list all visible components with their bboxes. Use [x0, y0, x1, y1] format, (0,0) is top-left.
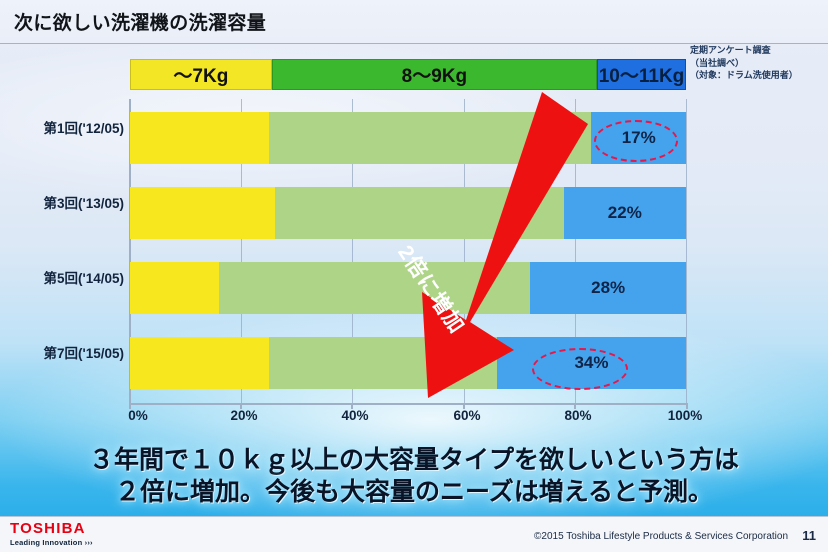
- survey-note: 定期アンケート調査 （当社調べ） （対象：ドラム洗使用者）: [690, 44, 822, 82]
- y-axis-label-3: 第7回('15/05): [44, 342, 125, 362]
- legend-item-medium: 8～9Kg: [272, 59, 597, 90]
- x-axis-label-80: 80%: [564, 408, 591, 423]
- bar-segment-small-0: [130, 112, 269, 164]
- legend-item-small: ～7Kg: [130, 59, 272, 90]
- x-axis-label-60: 60%: [453, 408, 480, 423]
- y-axis-labels: 第1回('12/05) 第3回('13/05) 第5回('14/05) 第7回(…: [0, 99, 124, 404]
- bar-segment-small-3: [130, 337, 269, 389]
- bar-value-0: 17%: [622, 128, 656, 148]
- toshiba-tagline: Leading Innovation ›››: [10, 538, 93, 547]
- y-axis-label-1: 第3回('13/05): [44, 192, 125, 212]
- copyright-text: ©2015 Toshiba Lifestyle Products & Servi…: [534, 531, 788, 542]
- y-axis-label-2: 第5回('14/05): [44, 267, 125, 287]
- summary-message-line1: ３年間で１０ｋｇ以上の大容量タイプを欲しいという方は: [0, 444, 828, 476]
- increase-arrow-icon: [392, 92, 612, 402]
- page-title: 次に欲しい洗濯機の洗濯容量: [14, 8, 266, 35]
- chart-legend: ～7Kg 8～9Kg 10～11Kg: [130, 59, 686, 90]
- summary-message-line2: ２倍に増加。今後も大容量のニーズは増えると予測。: [0, 476, 828, 508]
- gridline-100: [686, 99, 687, 404]
- legend-item-large: 10～11Kg: [597, 59, 686, 90]
- bar-segment-small-2: [130, 262, 219, 314]
- summary-message: ３年間で１０ｋｇ以上の大容量タイプを欲しいという方は ２倍に増加。今後も大容量の…: [0, 444, 828, 508]
- toshiba-logo: TOSHIBA: [10, 520, 86, 537]
- x-axis-label-100: 100%: [668, 408, 703, 423]
- bar-segment-small-1: [130, 187, 275, 239]
- survey-note-line2: （当社調べ）: [690, 57, 822, 70]
- survey-note-line1: 定期アンケート調査: [690, 44, 822, 57]
- survey-note-line3: （対象：ドラム洗使用者）: [690, 69, 822, 82]
- x-axis-label-20: 20%: [230, 408, 257, 423]
- x-axis-label-40: 40%: [341, 408, 368, 423]
- x-axis-label-0: 0%: [128, 408, 148, 423]
- y-axis-label-0: 第1回('12/05): [44, 117, 125, 137]
- page-number: 11: [802, 528, 816, 543]
- slide: 次に欲しい洗濯機の洗濯容量 ～7Kg 8～9Kg 10～11Kg 定期アンケート…: [0, 0, 828, 552]
- bar-value-1: 22%: [608, 203, 642, 223]
